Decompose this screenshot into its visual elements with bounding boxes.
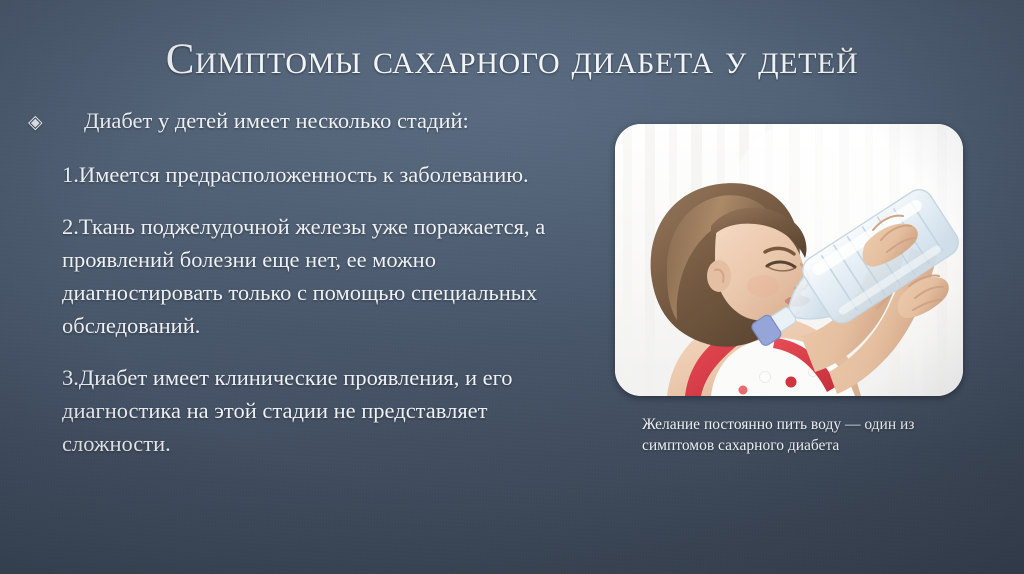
numbered-item-2: 2.Ткань поджелудочной железы уже поражае… xyxy=(62,210,592,342)
numbered-item-3: 3.Диабет имеет клинические проявления, и… xyxy=(62,361,592,460)
bullet-item-0: ◈Диабет у детей имеет несколько стадий: xyxy=(62,104,592,139)
numbered-item-1: 1.Имеется предрасположенность к заболева… xyxy=(62,158,592,191)
slide-body-text: ◈Диабет у детей имеет несколько стадий: … xyxy=(62,104,592,479)
presentation-slide: Симптомы сахарного диабета у детей ◈Диаб… xyxy=(0,0,1024,574)
diamond-bullet-icon: ◈ xyxy=(62,106,84,139)
photo-girl-drinking-water xyxy=(615,124,963,396)
bullet-item-0-label: Диабет у детей имеет несколько стадий: xyxy=(84,108,469,133)
photo-caption: Желание постоянно пить воду — один из си… xyxy=(642,414,958,456)
photo-illustration xyxy=(615,124,963,396)
page-title: Симптомы сахарного диабета у детей xyxy=(0,34,1024,86)
